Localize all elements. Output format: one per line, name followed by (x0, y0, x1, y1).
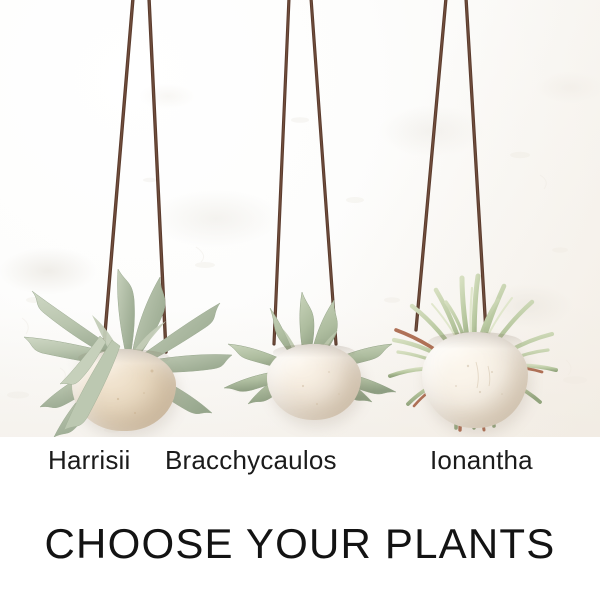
species-label-ionantha: Ionantha (430, 445, 533, 476)
species-label-bracchycaulos: Bracchycaulos (165, 445, 337, 476)
species-label-harrisii: Harrisii (48, 445, 130, 476)
species-label-row: Harrisii Bracchycaulos Ionantha (0, 445, 600, 485)
product-image: Harrisii Bracchycaulos Ionantha CHOOSE Y… (0, 0, 600, 600)
caption-band: Harrisii Bracchycaulos Ionantha CHOOSE Y… (0, 437, 600, 600)
planter-ionantha (370, 0, 600, 437)
plant-photo (0, 0, 600, 437)
headline-choose-your-plants: CHOOSE YOUR PLANTS (0, 520, 600, 568)
